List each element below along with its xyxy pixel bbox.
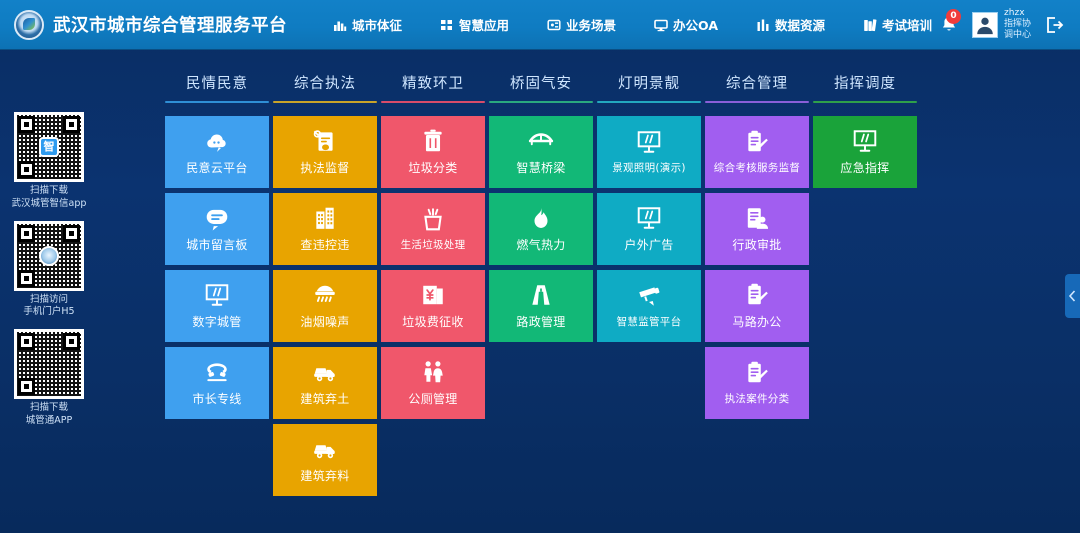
main-nav: 城市体征 智慧应用 业务场景 办公OA 数据资源 — [327, 11, 938, 38]
app-tile[interactable]: 生活垃圾处理 — [381, 193, 485, 265]
board-icon — [636, 205, 662, 231]
category-underline — [489, 101, 593, 103]
app-tile-label: 执法案件分类 — [725, 391, 790, 406]
category-column: 指挥调度应急指挥 — [813, 72, 917, 496]
dump-truck-icon — [312, 359, 338, 385]
category-tiles: 民意云平台城市留言板数字城管市长专线 — [165, 116, 269, 496]
category-title[interactable]: 指挥调度 — [813, 72, 917, 93]
board-icon — [852, 128, 878, 154]
app-tile[interactable]: 智慧监管平台 — [597, 270, 701, 342]
category-tiles: 综合考核服务监督行政审批马路办公执法案件分类 — [705, 116, 809, 496]
app-tile-label: 数字城管 — [192, 313, 241, 330]
category-column: 精致环卫垃圾分类生活垃圾处理垃圾费征收公厕管理 — [381, 72, 485, 496]
page-title: 武汉市城市综合管理服务平台 — [53, 12, 287, 37]
logout-icon — [1044, 15, 1064, 35]
nav-item-chengshitizheng[interactable]: 城市体征 — [327, 11, 408, 38]
qr-finder-top-left — [18, 116, 35, 133]
app-tile-label: 燃气热力 — [516, 236, 565, 253]
brand: 武汉市城市综合管理服务平台 — [0, 10, 287, 40]
waste-basket-icon — [420, 206, 446, 232]
category-header: 民情民意 — [165, 72, 269, 110]
category-title[interactable]: 综合执法 — [273, 72, 377, 93]
user-menu[interactable]: zhzx 指挥协调中心 — [972, 8, 1032, 42]
app-tile-label: 建筑弃土 — [300, 390, 349, 407]
app-tile[interactable]: 公厕管理 — [381, 347, 485, 419]
bridge-icon — [528, 128, 554, 154]
category-title[interactable]: 民情民意 — [165, 72, 269, 93]
category-title[interactable]: 综合管理 — [705, 72, 809, 93]
app-tile[interactable]: 城市留言板 — [165, 193, 269, 265]
nav-item-shujuziyuan[interactable]: 数据资源 — [750, 11, 831, 38]
nav-item-kaoshipeixun[interactable]: 考试培训 — [857, 11, 938, 38]
category-underline — [597, 101, 701, 103]
category-tiles: 智慧桥梁燃气热力路政管理 — [489, 116, 593, 496]
app-tile[interactable]: 执法监督 — [273, 116, 377, 188]
fume-hood-icon — [312, 282, 338, 308]
app-tile[interactable]: 民意云平台 — [165, 116, 269, 188]
app-tile-label: 景观照明(演示) — [612, 160, 686, 175]
app-tile-label: 生活垃圾处理 — [401, 237, 466, 252]
nav-label: 数据资源 — [775, 15, 825, 34]
telephone-icon — [204, 359, 230, 385]
qr-caption-line2: 城管通APP — [10, 415, 88, 428]
qr-sidebar: 智 扫描下载 武汉城管智信app 扫描访问 手机门户H5 扫描下载 城管通APP — [10, 112, 88, 438]
app-tile-label: 智慧桥梁 — [516, 159, 565, 176]
app-tile-label: 油烟噪声 — [300, 313, 349, 330]
category-tiles: 应急指挥 — [813, 116, 917, 496]
category-column: 综合管理综合考核服务监督行政审批马路办公执法案件分类 — [705, 72, 809, 496]
clipboard-edit-icon — [744, 282, 770, 308]
category-tiles: 景观照明(演示)户外广告智慧监管平台 — [597, 116, 701, 496]
app-header: 武汉市城市综合管理服务平台 城市体征 智慧应用 业务场景 办公OA — [0, 0, 1080, 50]
app-tile-label: 智慧监管平台 — [617, 314, 682, 329]
clipboard-edit-icon — [744, 360, 770, 386]
app-tile-label: 建筑弃料 — [300, 467, 349, 484]
app-tile[interactable]: 建筑弃土 — [273, 347, 377, 419]
app-tile-label: 户外广告 — [624, 236, 673, 253]
app-tile-label: 应急指挥 — [840, 159, 889, 176]
app-tile-label: 执法监督 — [300, 159, 349, 176]
app-tile[interactable]: 路政管理 — [489, 270, 593, 342]
cctv-camera-icon — [636, 283, 662, 309]
qr-finder-bottom-left — [18, 270, 35, 287]
monitor-icon — [654, 18, 668, 32]
app-tile[interactable]: 执法案件分类 — [705, 347, 809, 419]
app-tile-label: 查违控违 — [300, 236, 349, 253]
qr-caption-line1: 扫描下载 — [10, 185, 88, 198]
cloud-chat-icon — [204, 128, 230, 154]
category-board: 民情民意民意云平台城市留言板数字城管市长专线综合执法执法监督查违控违油烟噪声建筑… — [165, 72, 917, 496]
data-bars-icon — [756, 18, 770, 32]
app-tile[interactable]: 应急指挥 — [813, 116, 917, 188]
nav-label: 智慧应用 — [459, 15, 509, 34]
app-tile[interactable]: 综合考核服务监督 — [705, 116, 809, 188]
qr-center-logo — [39, 246, 59, 266]
qr-block-chengguantong-app: 扫描下载 城管通APP — [10, 329, 88, 428]
app-tile[interactable]: 户外广告 — [597, 193, 701, 265]
user-name: zhzx — [1004, 8, 1032, 19]
nav-item-yewuchangjing[interactable]: 业务场景 — [541, 11, 622, 38]
nav-label: 考试培训 — [882, 15, 932, 34]
yuan-doc-icon — [420, 282, 446, 308]
app-tile-label: 垃圾费征收 — [402, 313, 464, 330]
notifications-button[interactable]: 0 — [938, 14, 960, 36]
qr-block-h5-portal: 扫描访问 手机门户H5 — [10, 221, 88, 320]
qr-finder-bottom-left — [18, 378, 35, 395]
chevron-left-icon — [1068, 290, 1077, 302]
app-tile-label: 城市留言板 — [186, 236, 248, 253]
app-tile[interactable]: 查违控违 — [273, 193, 377, 265]
category-underline — [705, 101, 809, 103]
qr-code-image: 智 — [14, 112, 84, 182]
qr-caption-line1: 扫描访问 — [10, 294, 88, 307]
app-tile[interactable]: 马路办公 — [705, 270, 809, 342]
trash-bin-icon — [420, 128, 446, 154]
qr-finder-top-right — [63, 225, 80, 242]
app-tile[interactable]: 行政审批 — [705, 193, 809, 265]
bar-chart-icon — [333, 18, 347, 32]
category-tiles: 执法监督查违控违油烟噪声建筑弃土建筑弃料 — [273, 116, 377, 496]
category-underline — [813, 101, 917, 103]
app-tile-label: 公厕管理 — [408, 390, 457, 407]
qr-finder-top-right — [63, 116, 80, 133]
qr-code-image — [14, 329, 84, 399]
nav-item-bangongoa[interactable]: 办公OA — [648, 11, 724, 38]
category-column: 灯明景靓景观照明(演示)户外广告智慧监管平台 — [597, 72, 701, 496]
app-tile[interactable]: 市长专线 — [165, 347, 269, 419]
nav-label: 办公OA — [673, 15, 718, 34]
qr-caption-line1: 扫描下载 — [10, 402, 88, 415]
category-header: 精致环卫 — [381, 72, 485, 110]
qr-caption-line2: 武汉城管智信app — [10, 198, 88, 211]
city-emblem-logo — [14, 10, 44, 40]
app-tile[interactable]: 油烟噪声 — [273, 270, 377, 342]
category-header: 桥固气安 — [489, 72, 593, 110]
category-column: 综合执法执法监督查违控违油烟噪声建筑弃土建筑弃料 — [273, 72, 377, 496]
category-title[interactable]: 桥固气安 — [489, 72, 593, 93]
qr-block-zhixin-app: 智 扫描下载 武汉城管智信app — [10, 112, 88, 211]
grid-squares-icon — [440, 18, 454, 32]
board-icon — [204, 282, 230, 308]
book-icon — [863, 18, 877, 32]
app-tile[interactable]: 数字城管 — [165, 270, 269, 342]
category-title[interactable]: 灯明景靓 — [597, 72, 701, 93]
qr-finder-bottom-left — [18, 161, 35, 178]
header-right: 0 zhzx 指挥协调中心 — [938, 8, 1080, 42]
app-tile-label: 路政管理 — [516, 313, 565, 330]
notification-count-badge: 0 — [946, 9, 961, 24]
qr-code-image — [14, 221, 84, 291]
building-icon — [312, 205, 338, 231]
nav-label: 业务场景 — [566, 15, 616, 34]
flame-icon — [528, 205, 554, 231]
qr-caption-line2: 手机门户H5 — [10, 306, 88, 319]
logout-button[interactable] — [1044, 15, 1064, 35]
app-tile-label: 垃圾分类 — [408, 159, 457, 176]
app-tile-label: 市长专线 — [192, 390, 241, 407]
app-tile-label: 马路办公 — [732, 313, 781, 330]
category-tiles: 垃圾分类生活垃圾处理垃圾费征收公厕管理 — [381, 116, 485, 496]
app-tile[interactable]: 垃圾分类 — [381, 116, 485, 188]
app-tile[interactable]: 燃气热力 — [489, 193, 593, 265]
doc-person-icon — [744, 205, 770, 231]
qr-finder-top-left — [18, 225, 35, 242]
qr-finder-top-left — [18, 333, 35, 350]
avatar — [972, 12, 998, 38]
board-icon — [636, 129, 662, 155]
category-title[interactable]: 精致环卫 — [381, 72, 485, 93]
category-underline — [165, 101, 269, 103]
app-tile-label: 综合考核服务监督 — [714, 160, 800, 175]
category-header: 综合执法 — [273, 72, 377, 110]
category-header: 综合管理 — [705, 72, 809, 110]
app-tile[interactable]: 建筑弃料 — [273, 424, 377, 496]
workflow-icon — [547, 18, 561, 32]
user-avatar — [974, 14, 996, 36]
category-header: 指挥调度 — [813, 72, 917, 110]
category-underline — [273, 101, 377, 103]
clipboard-edit-icon — [744, 129, 770, 155]
app-tile-label: 民意云平台 — [186, 159, 248, 176]
message-icon — [204, 205, 230, 231]
app-tile[interactable]: 智慧桥梁 — [489, 116, 593, 188]
restroom-icon — [420, 359, 446, 385]
dump-truck-icon — [312, 436, 338, 462]
user-org: 指挥协调中心 — [1004, 19, 1032, 42]
category-column: 民情民意民意云平台城市留言板数字城管市长专线 — [165, 72, 269, 496]
nav-label: 城市体征 — [352, 15, 402, 34]
sidebar-collapse-tab[interactable] — [1065, 274, 1080, 318]
qr-finder-top-right — [63, 333, 80, 350]
app-tile-label: 行政审批 — [732, 236, 781, 253]
highway-icon — [528, 282, 554, 308]
badge-doc-icon — [312, 128, 338, 154]
app-tile[interactable]: 垃圾费征收 — [381, 270, 485, 342]
qr-center-logo: 智 — [39, 137, 59, 157]
category-header: 灯明景靓 — [597, 72, 701, 110]
nav-item-zhihuiyingyong[interactable]: 智慧应用 — [434, 11, 515, 38]
category-underline — [381, 101, 485, 103]
app-tile[interactable]: 景观照明(演示) — [597, 116, 701, 188]
category-column: 桥固气安智慧桥梁燃气热力路政管理 — [489, 72, 593, 496]
user-meta: zhzx 指挥协调中心 — [1004, 8, 1032, 42]
